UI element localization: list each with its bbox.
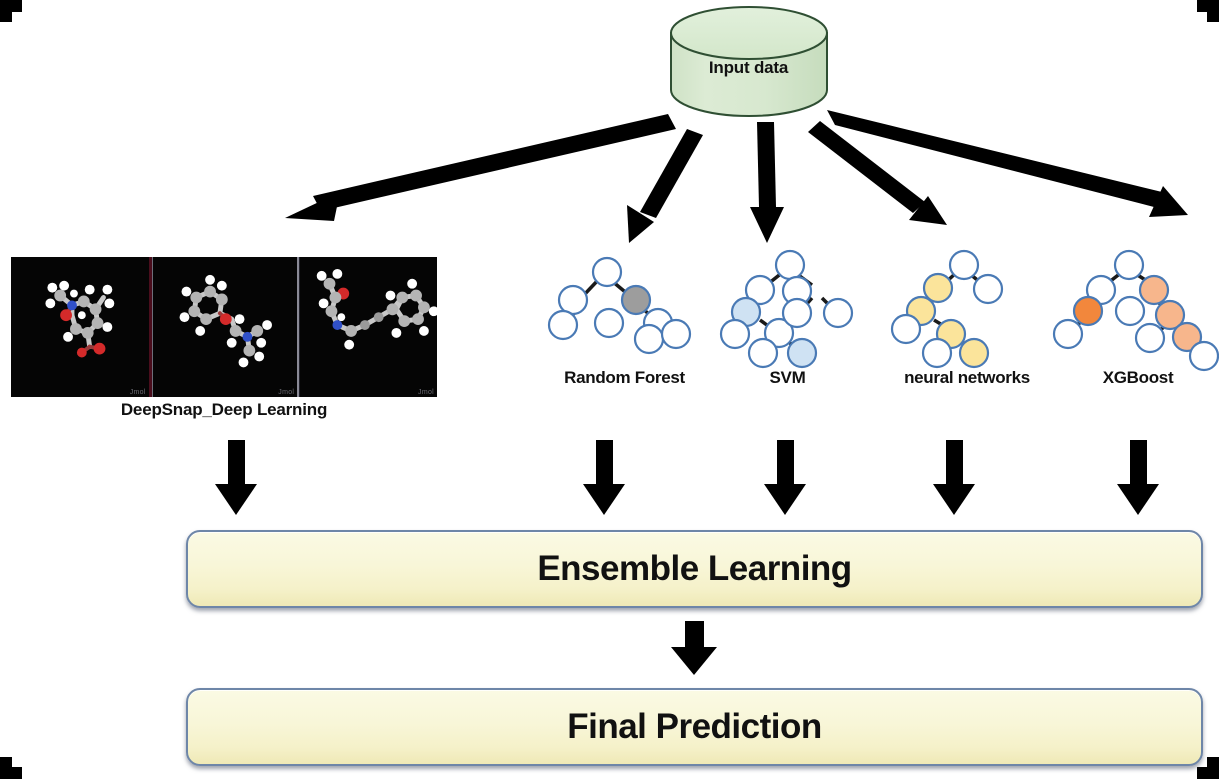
model-xgboost: XGBoost [1070, 368, 1206, 388]
ensemble-learning-label: Ensemble Learning [537, 549, 851, 589]
arrow-dl-to-ensemble [215, 440, 257, 515]
arrow-input-to-xgboost [827, 110, 1188, 217]
input-data-node: Input data [670, 8, 827, 116]
input-data-label: Input data [670, 8, 827, 116]
model-svm: SVM [720, 368, 855, 388]
molecule-structure-1 [11, 257, 149, 397]
molecule-structure-3 [300, 257, 437, 397]
molecule-view-1: Jmol [11, 257, 149, 397]
arrows-from-input [285, 110, 1188, 243]
molecule-view-2: Jmol [153, 257, 298, 397]
arrow-nn-to-ensemble [933, 440, 975, 515]
arrow-input-to-svm [750, 122, 784, 243]
tree-neural-networks [892, 251, 1002, 367]
molecule-view-3: Jmol [300, 257, 437, 397]
model-random-forest: Random Forest [537, 368, 712, 388]
model-label-neural-networks: neural networks [879, 368, 1055, 388]
tree-random-forest [549, 258, 690, 353]
molecule-structure-2 [153, 257, 298, 397]
tree-xgboost [1054, 251, 1218, 370]
arrow-input-to-deep-learning [285, 114, 676, 221]
ensemble-learning-box: Ensemble Learning [186, 530, 1203, 608]
model-neural-networks: neural networks [879, 368, 1055, 388]
arrow-svm-to-ensemble [764, 440, 806, 515]
jmol-watermark-3: Jmol [418, 389, 434, 396]
tree-svm [721, 251, 852, 367]
final-prediction-label: Final Prediction [567, 707, 822, 747]
arrows-to-ensemble [215, 440, 1159, 515]
deepsnap-image-panel: Jmol [11, 257, 437, 397]
arrow-ensemble-to-final [671, 621, 717, 675]
arrow-xgb-to-ensemble [1117, 440, 1159, 515]
model-label-random-forest: Random Forest [537, 368, 712, 388]
final-prediction-box: Final Prediction [186, 688, 1203, 766]
arrow-input-to-random-forest [627, 129, 703, 243]
jmol-watermark-1: Jmol [130, 389, 146, 396]
model-label-svm: SVM [720, 368, 855, 388]
arrow-rf-to-ensemble [583, 440, 625, 515]
diagram-canvas: Input data [0, 0, 1219, 779]
deepsnap-label: DeepSnap_Deep Learning [11, 400, 437, 420]
model-label-xgboost: XGBoost [1070, 368, 1206, 388]
jmol-watermark-2: Jmol [278, 389, 294, 396]
